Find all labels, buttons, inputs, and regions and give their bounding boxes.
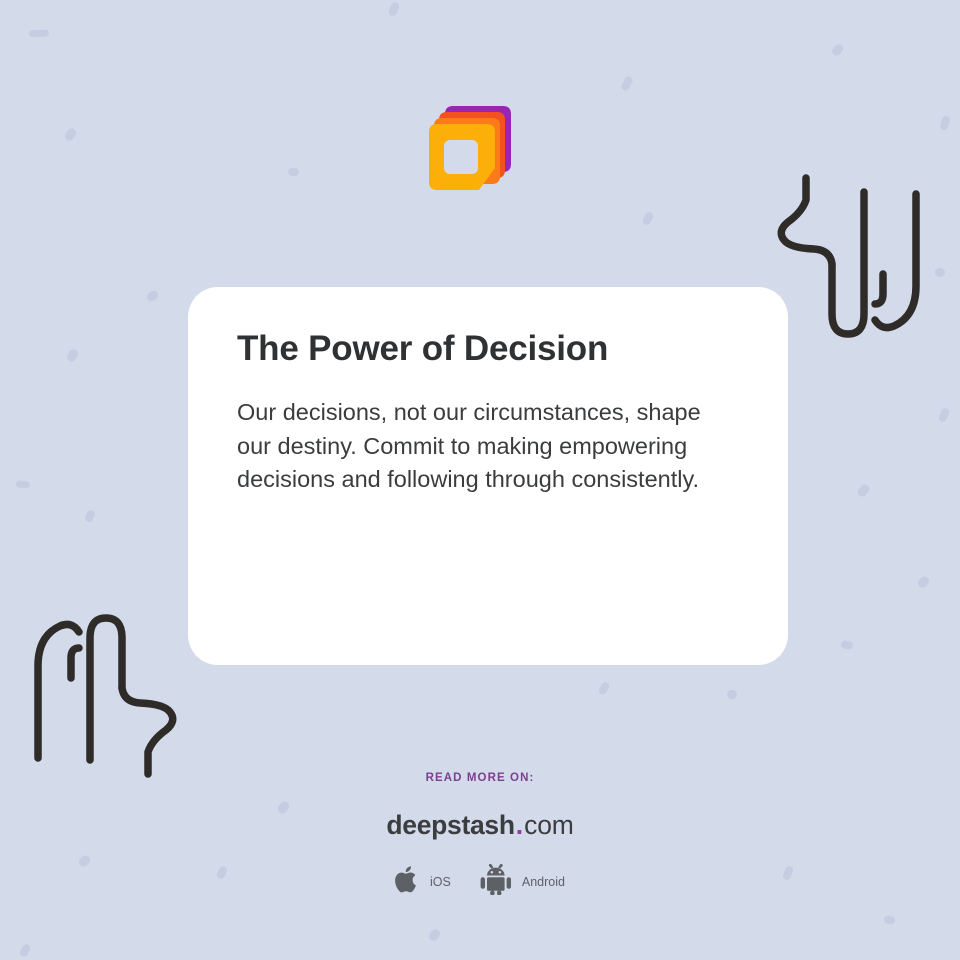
background-speck (427, 928, 441, 943)
background-speck (620, 75, 634, 92)
deepstash-logo (425, 100, 525, 200)
read-more-label: READ MORE ON: (0, 760, 960, 785)
android-store-label: Android (522, 876, 565, 889)
background-speck (856, 483, 871, 499)
brand-name: deepstash (386, 810, 514, 840)
ios-store-label: iOS (430, 876, 451, 889)
background-speck (939, 115, 951, 131)
footer: READ MORE ON: deepstash.com iOS (0, 760, 960, 900)
logo-inner-hole (444, 140, 478, 174)
store-badges: iOS (0, 838, 960, 900)
background-speck (145, 289, 160, 303)
background-speck (65, 348, 80, 364)
pointing-hand-illustration-bottom-left (24, 560, 202, 780)
background-speck (287, 167, 299, 176)
quote-card: The Power of Decision Our decisions, not… (188, 287, 788, 665)
background-speck (830, 43, 845, 58)
background-speck (641, 211, 654, 226)
background-speck (883, 915, 895, 925)
background-speck (29, 30, 49, 38)
brand-wordmark[interactable]: deepstash.com (0, 785, 960, 839)
ios-store-badge[interactable]: iOS (395, 864, 451, 900)
background-speck (16, 480, 31, 488)
android-icon (479, 864, 513, 900)
background-speck (937, 407, 950, 423)
card-title: The Power of Decision (237, 329, 738, 369)
android-store-badge[interactable]: Android (479, 864, 565, 900)
background-speck (726, 689, 738, 700)
background-speck (84, 509, 97, 523)
brand-dot: . (515, 810, 524, 840)
apple-icon (395, 864, 421, 900)
background-speck (840, 640, 853, 650)
card-body-text: Our decisions, not our circumstances, sh… (237, 369, 738, 496)
background-speck (934, 267, 946, 278)
background-speck (63, 127, 78, 143)
brand-tld: com (524, 810, 573, 840)
background-speck (597, 681, 611, 696)
quote-card-canvas: The Power of Decision Our decisions, not… (0, 0, 960, 960)
background-speck (916, 575, 931, 590)
background-speck (388, 1, 401, 17)
background-speck (18, 943, 31, 958)
